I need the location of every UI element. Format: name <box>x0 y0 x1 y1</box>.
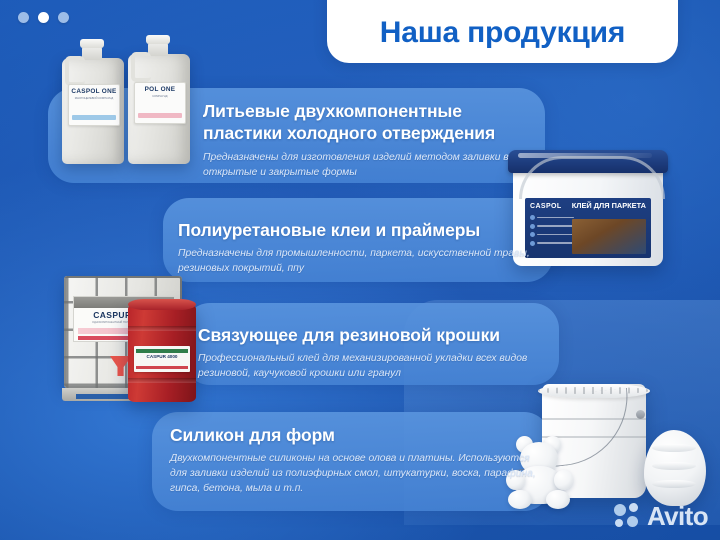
canister-left-label: CASPOL ONE МНОГОЦЕЛЕВОЙ КОМПАУНД <box>68 84 120 126</box>
barrel-label-green-bar <box>136 349 188 353</box>
canister-left-label-sub: МНОГОЦЕЛЕВОЙ КОМПАУНД <box>69 97 119 101</box>
canister-right-handle <box>131 52 151 82</box>
barrel-label: CASPUR 4000 <box>134 346 190 372</box>
teddy-bear-mold <box>506 436 584 510</box>
barrel-label-red-bar <box>136 366 188 369</box>
mold-ridge <box>652 462 696 470</box>
canister-left-handle <box>65 56 85 86</box>
page-title: Наша продукция <box>380 16 625 63</box>
carousel-dot-1[interactable] <box>18 12 29 23</box>
barrel-rib <box>128 326 196 331</box>
carousel-dot-2-active[interactable] <box>38 12 49 23</box>
avito-wordmark: Avito <box>647 501 708 532</box>
canister-left-label-band <box>72 115 116 120</box>
bucket-feature-list <box>530 215 574 249</box>
canister-left: CASPOL ONE МНОГОЦЕЛЕВОЙ КОМПАУНД <box>62 58 124 164</box>
avito-watermark: Avito <box>614 501 708 532</box>
title-badge: Наша продукция <box>327 0 678 63</box>
canister-left-label-name: CASPOL ONE <box>69 88 119 95</box>
ibc-tote-and-barrel-art: CASPUR 4000 ОДНОКОМПОНЕНТНЫЙ ПОЛИУРЕТАНО… <box>64 266 196 402</box>
barrel-product-name: CASPUR 4000 <box>134 354 190 359</box>
teddy-leg-left <box>508 490 532 509</box>
mold-ridge <box>652 480 696 488</box>
teddy-arm-right <box>554 470 573 490</box>
carousel-dot-3[interactable] <box>58 12 69 23</box>
bullet-line <box>537 217 574 219</box>
canister-pair-art: CASPOL ONE МНОГОЦЕЛЕВОЙ КОМПАУНД POL ONE… <box>62 48 192 164</box>
bullet-line <box>537 242 574 244</box>
barrel-rib <box>128 378 196 383</box>
bucket-feature-row <box>530 215 574 220</box>
bucket-handle <box>519 156 665 199</box>
parquet-glue-bucket-art: CASPOL КЛЕЙ ДЛЯ ПАРКЕТА <box>513 150 678 275</box>
barrel-top-rim <box>128 299 196 310</box>
ibc-pallet-stripe <box>76 394 130 399</box>
product-card-rubber-binder[interactable] <box>184 303 559 385</box>
canister-right-label-sub: КОМПАУНД <box>135 95 185 99</box>
mold-ridge <box>652 444 696 452</box>
ibc-label-red-band <box>78 336 134 340</box>
teddy-leg-right <box>546 490 570 509</box>
bullet-icon <box>530 224 535 229</box>
silicone-mold-piece <box>644 430 706 506</box>
bucket-feature-row <box>530 241 574 246</box>
product-card-adhesives[interactable] <box>163 198 553 282</box>
canister-right-label: POL ONE КОМПАУНД <box>134 82 186 124</box>
bullet-line <box>537 225 574 227</box>
bullet-icon <box>530 232 535 237</box>
canister-right-label-name: POL ONE <box>135 86 185 93</box>
canister-right-cap <box>146 35 170 44</box>
bucket-photo-parquet <box>572 219 646 254</box>
bullet-line <box>537 234 574 236</box>
bucket-label-face: CASPOL КЛЕЙ ДЛЯ ПАРКЕТА <box>525 198 651 258</box>
bucket-feature-row <box>530 224 574 229</box>
pail-bail-ear <box>636 410 645 419</box>
bullet-icon <box>530 241 535 246</box>
canister-left-neck <box>82 46 102 60</box>
red-barrel: CASPUR 4000 <box>128 304 196 402</box>
product-showcase-image: Наша продукция CASPOL ONE МНОГОЦЕЛЕВОЙ К… <box>0 0 720 540</box>
canister-right: POL ONE КОМПАУНД <box>128 54 190 164</box>
bucket-feature-row <box>530 232 574 237</box>
bucket-brand: CASPOL <box>530 203 562 210</box>
product-card-silicone[interactable] <box>152 412 550 511</box>
bucket-headline: КЛЕЙ ДЛЯ ПАРКЕТА <box>570 202 646 211</box>
canister-right-neck <box>148 42 168 56</box>
bullet-icon <box>530 215 535 220</box>
avito-logo-icon <box>614 503 641 530</box>
carousel-indicator[interactable] <box>18 12 69 23</box>
teddy-arm-left <box>506 470 525 490</box>
canister-right-label-band <box>138 113 182 118</box>
canister-left-cap <box>80 39 104 48</box>
